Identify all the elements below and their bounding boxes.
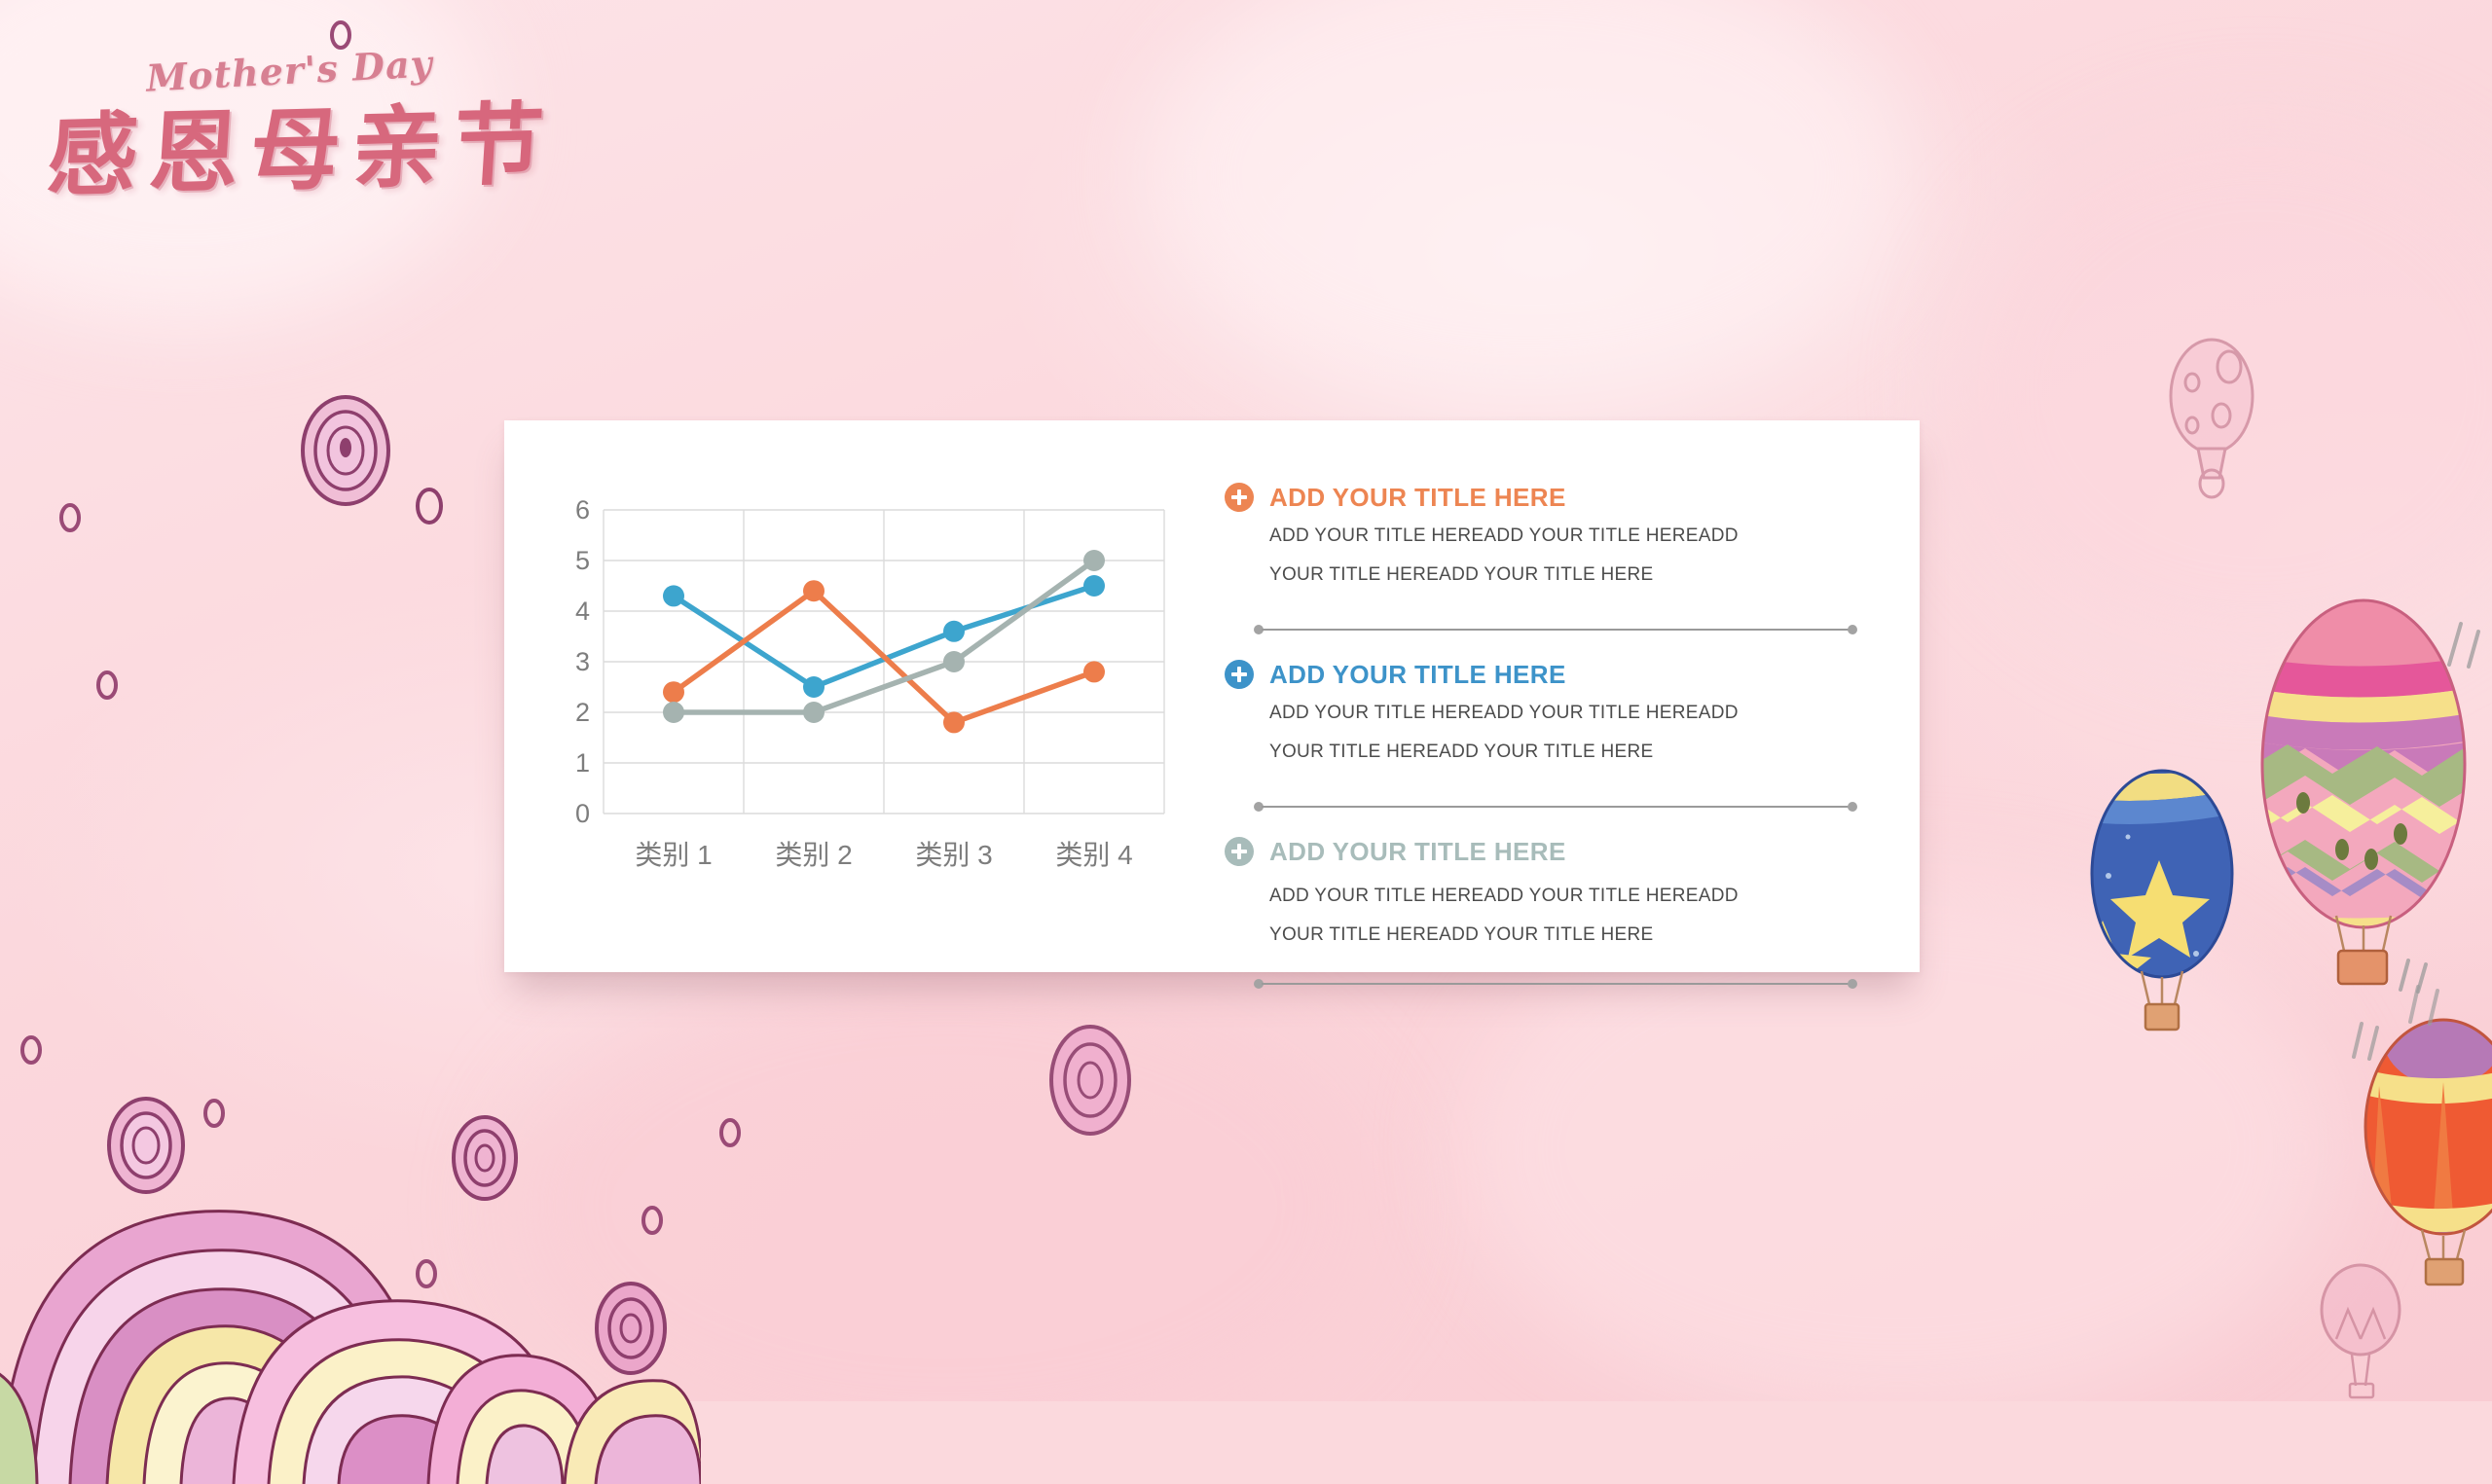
content-card: 0123456类别 1类别 2类别 3类别 4 ADD YOUR TITLE H… — [504, 420, 1920, 972]
panel-block-line-1: ADD YOUR TITLE HEREADD YOUR TITLE HEREAD… — [1269, 886, 1887, 907]
panel-separator — [1254, 625, 1857, 634]
concentric-ring-icon — [1032, 1012, 1149, 1148]
separator-line — [1262, 629, 1850, 631]
chart-data-point — [943, 621, 965, 642]
separator-dot-right — [1848, 625, 1857, 634]
separator-dot-right — [1848, 802, 1857, 812]
motion-lines-icon — [2400, 973, 2469, 1070]
x-axis-tick-label: 类别 3 — [915, 840, 992, 870]
plus-circle-icon[interactable] — [1225, 660, 1254, 689]
y-axis-tick-label: 4 — [575, 597, 590, 626]
small-ring-icon — [711, 1109, 750, 1156]
separator-dot-right — [1848, 979, 1857, 989]
x-axis-tick-label: 类别 4 — [1055, 840, 1132, 870]
x-axis-tick-label: 类别 2 — [775, 840, 852, 870]
outline-balloon-icon — [2307, 1253, 2414, 1399]
panel-block-header: ADD YOUR TITLE HERE — [1225, 835, 1887, 868]
y-axis-tick-label: 2 — [575, 698, 590, 727]
panel-block-line-2: YOUR TITLE HEREADD YOUR TITLE HERE — [1269, 924, 1887, 946]
panel-block-line-1: ADD YOUR TITLE HEREADD YOUR TITLE HEREAD… — [1269, 703, 1887, 724]
separator-line — [1262, 806, 1850, 808]
y-axis-tick-label: 6 — [575, 495, 590, 525]
chart-data-point — [803, 702, 825, 723]
panel-block-title: ADD YOUR TITLE HERE — [1269, 837, 1566, 867]
x-axis-tick-label: 类别 1 — [635, 840, 712, 870]
chart-data-point — [1083, 575, 1105, 597]
chart-data-point — [943, 651, 965, 672]
panel-block[interactable]: ADD YOUR TITLE HERE ADD YOUR TITLE HEREA… — [1225, 835, 1887, 971]
chart-canvas: 0123456类别 1类别 2类别 3类别 4 — [553, 489, 1176, 907]
panel-separator — [1254, 979, 1857, 989]
plus-circle-icon[interactable] — [1225, 483, 1254, 512]
y-axis-tick-label: 1 — [575, 748, 590, 778]
small-ring-icon — [51, 494, 90, 541]
concentric-ring-icon — [287, 387, 404, 514]
panel-block[interactable]: ADD YOUR TITLE HERE ADD YOUR TITLE HEREA… — [1225, 481, 1887, 617]
plus-circle-icon[interactable] — [1225, 837, 1254, 866]
panel-block-header: ADD YOUR TITLE HERE — [1225, 481, 1887, 514]
panel-block-title: ADD YOUR TITLE HERE — [1269, 483, 1566, 513]
outline-balloon-icon — [2151, 326, 2278, 506]
chart-data-point — [943, 711, 965, 733]
chart-data-point — [663, 681, 684, 703]
chart-data-point — [1083, 550, 1105, 571]
small-ring-icon — [407, 479, 452, 533]
y-axis-tick-label: 3 — [575, 647, 590, 676]
chart-data-point — [803, 580, 825, 601]
chart-data-point — [663, 702, 684, 723]
panel-block-line-2: YOUR TITLE HEREADD YOUR TITLE HERE — [1269, 742, 1887, 763]
panel-separator — [1254, 802, 1857, 812]
panel-block-line-2: YOUR TITLE HEREADD YOUR TITLE HERE — [1269, 564, 1887, 586]
chart-data-point — [1083, 661, 1105, 682]
panel-block[interactable]: ADD YOUR TITLE HERE ADD YOUR TITLE HEREA… — [1225, 658, 1887, 794]
panel-block-header: ADD YOUR TITLE HERE — [1225, 658, 1887, 691]
balloon-multicolor-icon — [2227, 589, 2492, 997]
panel-block-title: ADD YOUR TITLE HERE — [1269, 660, 1566, 690]
line-chart: 0123456类别 1类别 2类别 3类别 4 — [553, 489, 1176, 907]
y-axis-tick-label: 5 — [575, 546, 590, 575]
chart-data-point — [803, 676, 825, 698]
slide-title-block: 感恩母亲节 Mother's Day — [39, 31, 487, 187]
page-title-cn: 感恩母亲节 — [44, 72, 559, 214]
fan-arc-decoration — [0, 1066, 701, 1484]
separator-line — [1262, 983, 1850, 985]
bg-blob — [1149, 0, 1908, 409]
small-ring-icon — [88, 662, 127, 708]
bullet-panel: ADD YOUR TITLE HERE ADD YOUR TITLE HEREA… — [1225, 481, 1887, 938]
y-axis-tick-label: 0 — [575, 799, 590, 828]
panel-block-line-1: ADD YOUR TITLE HEREADD YOUR TITLE HEREAD… — [1269, 525, 1887, 547]
chart-data-point — [663, 585, 684, 606]
